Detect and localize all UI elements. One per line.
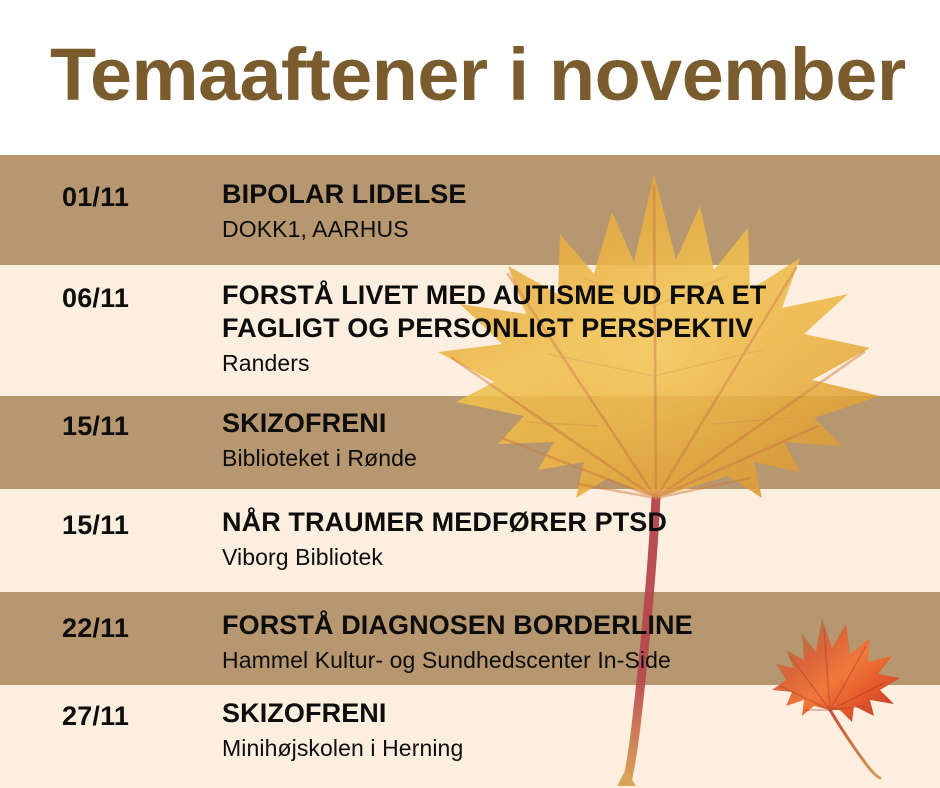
event-venue: Biblioteket i Rønde — [222, 443, 417, 473]
event-details: SKIZOFRENIBiblioteket i Rønde — [222, 407, 417, 473]
event-list: 01/11BIPOLAR LIDELSEDOKK1, AARHUS06/11FO… — [0, 0, 940, 788]
poster-canvas: Temaaftener i november — [0, 0, 940, 788]
event-date: 06/11 — [62, 283, 129, 314]
event-details: NÅR TRAUMER MEDFØRER PTSDViborg Bibliote… — [222, 506, 667, 572]
event-venue: DOKK1, AARHUS — [222, 214, 467, 244]
event-title-line: FORSTÅ LIVET MED AUTISME UD FRA ET — [222, 279, 766, 312]
event-title-line: FAGLIGT OG PERSONLIGT PERSPEKTIV — [222, 312, 766, 345]
event-date: 22/11 — [62, 613, 129, 644]
event-date: 15/11 — [62, 510, 129, 541]
event-venue: Hammel Kultur- og Sundhedscenter In-Side — [222, 645, 693, 675]
event-details: FORSTÅ DIAGNOSEN BORDERLINEHammel Kultur… — [222, 609, 693, 675]
event-date: 01/11 — [62, 182, 129, 213]
event-title-line: SKIZOFRENI — [222, 407, 417, 440]
event-title-line: BIPOLAR LIDELSE — [222, 178, 467, 211]
event-date: 27/11 — [62, 701, 129, 732]
event-title-line: NÅR TRAUMER MEDFØRER PTSD — [222, 506, 667, 539]
event-details: SKIZOFRENIMinihøjskolen i Herning — [222, 697, 463, 763]
event-title-line: FORSTÅ DIAGNOSEN BORDERLINE — [222, 609, 693, 642]
event-venue: Viborg Bibliotek — [222, 542, 667, 572]
event-venue: Randers — [222, 348, 766, 378]
event-details: BIPOLAR LIDELSEDOKK1, AARHUS — [222, 178, 467, 244]
event-details: FORSTÅ LIVET MED AUTISME UD FRA ETFAGLIG… — [222, 279, 766, 378]
event-date: 15/11 — [62, 411, 129, 442]
event-title-line: SKIZOFRENI — [222, 697, 463, 730]
event-venue: Minihøjskolen i Herning — [222, 733, 463, 763]
